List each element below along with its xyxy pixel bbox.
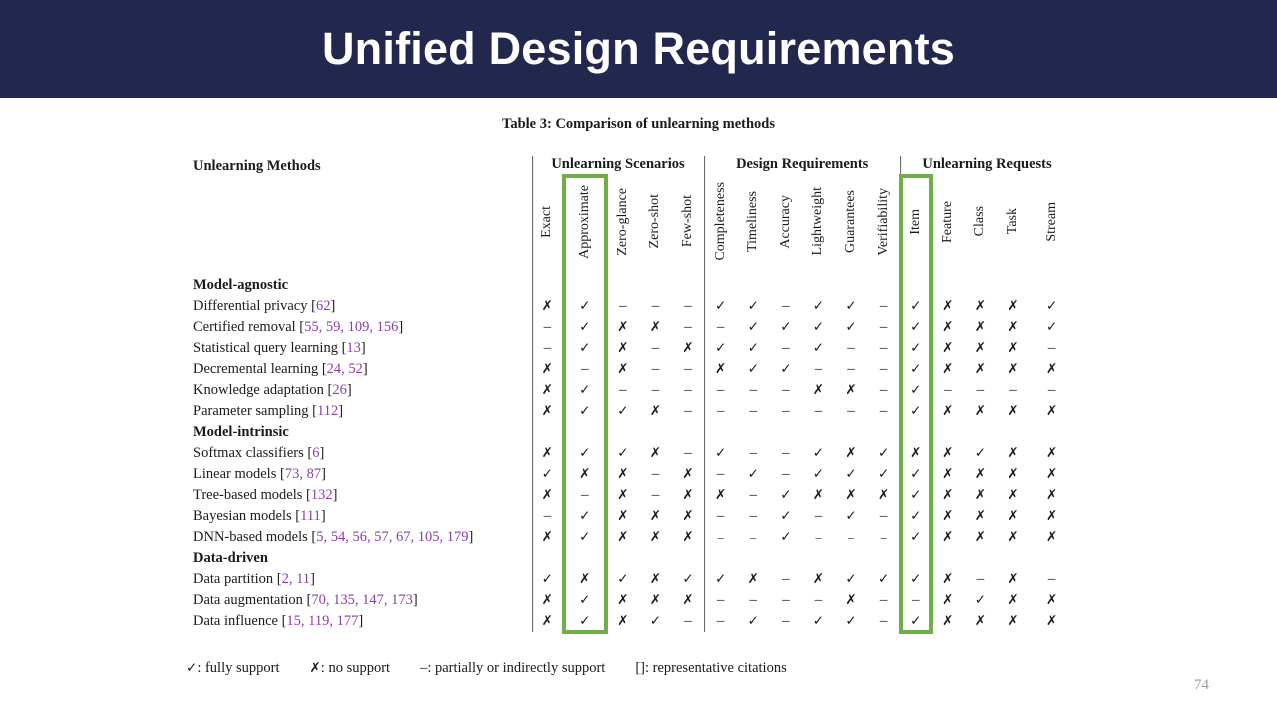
support-cell-timeliness: – bbox=[737, 485, 770, 506]
support-cell-task: ✗ bbox=[997, 527, 1030, 548]
dash-icon: – bbox=[750, 382, 758, 398]
section-header-spacer-cell bbox=[867, 275, 900, 296]
cross-icon: ✗ bbox=[650, 445, 661, 461]
cross-icon: ✗ bbox=[617, 592, 628, 608]
support-cell-zero-glance: – bbox=[607, 296, 640, 317]
method-citations: 2, 11 bbox=[282, 571, 310, 587]
check-icon: ✓ bbox=[748, 613, 759, 629]
cross-icon: ✗ bbox=[942, 445, 953, 461]
section-header-spacer-cell bbox=[672, 275, 705, 296]
method-citations: 15, 119, 177 bbox=[286, 613, 358, 629]
check-icon: ✓ bbox=[910, 403, 921, 419]
dash-icon: – bbox=[652, 487, 660, 503]
cross-icon: ✗ bbox=[942, 571, 953, 587]
check-icon: ✓ bbox=[579, 529, 590, 545]
dash-icon: – bbox=[619, 382, 627, 398]
check-icon: ✓ bbox=[845, 466, 856, 482]
support-cell-stream: ✗ bbox=[1029, 485, 1074, 506]
method-name: DNN-based models [ bbox=[193, 529, 316, 545]
support-cell-feature: ✗ bbox=[932, 359, 965, 380]
support-cell-stream: ✓ bbox=[1029, 296, 1074, 317]
section-header-spacer-cell bbox=[802, 422, 835, 443]
table-row: Data partition [2, 11]✓✗✓✗✓✓✗–✗✓✓✓✗–✗– bbox=[186, 569, 1074, 590]
support-cell-approximate: ✓ bbox=[563, 380, 606, 401]
cross-icon: ✗ bbox=[650, 319, 661, 335]
check-icon: ✓ bbox=[650, 613, 661, 629]
support-cell-stream: – bbox=[1029, 569, 1074, 590]
support-cell-stream: ✗ bbox=[1029, 401, 1074, 422]
method-citations: 26 bbox=[332, 382, 347, 398]
support-cell-lightweight: – bbox=[802, 359, 835, 380]
check-icon: ✓ bbox=[748, 298, 759, 314]
cross-icon: ✗ bbox=[542, 298, 553, 314]
cross-icon: ✗ bbox=[975, 466, 986, 482]
cross-icon: ✗ bbox=[682, 340, 693, 356]
slide-content: Table 3: Comparison of unlearning method… bbox=[0, 98, 1277, 716]
section-header-spacer-cell bbox=[607, 548, 640, 569]
cross-icon: ✗ bbox=[845, 592, 856, 608]
cross-icon: ✗ bbox=[1007, 487, 1018, 503]
section-title: Model-agnostic bbox=[186, 275, 532, 296]
support-cell-item: ✓ bbox=[900, 569, 932, 590]
method-name-cell: Knowledge adaptation [26] bbox=[186, 380, 532, 401]
dash-icon: – bbox=[782, 340, 790, 356]
support-cell-zero-shot: ✗ bbox=[639, 317, 672, 338]
support-cell-few-shot: ✗ bbox=[672, 527, 705, 548]
cross-icon: ✗ bbox=[942, 319, 953, 335]
cross-icon: ✗ bbox=[845, 445, 856, 461]
support-cell-completeness: – bbox=[704, 611, 737, 632]
section-header-spacer-cell bbox=[607, 275, 640, 296]
cross-icon: ✗ bbox=[715, 361, 726, 377]
support-cell-guarantees: ✓ bbox=[835, 317, 868, 338]
column-header-exact: Exact bbox=[532, 176, 564, 275]
cross-icon: ✗ bbox=[975, 487, 986, 503]
citation-bracket-close: ] bbox=[338, 403, 343, 419]
section-header-spacer-cell bbox=[770, 275, 803, 296]
dash-icon: – bbox=[544, 340, 552, 356]
support-cell-zero-glance: ✗ bbox=[607, 359, 640, 380]
dash-icon: – bbox=[912, 592, 920, 608]
column-header-label: Approximate bbox=[578, 185, 592, 259]
column-header-label: Stream bbox=[1045, 202, 1059, 242]
support-cell-class: ✗ bbox=[964, 317, 997, 338]
dash-icon: – bbox=[815, 361, 823, 377]
column-header-item: Item bbox=[900, 176, 932, 275]
support-cell-guarantees: – bbox=[835, 401, 868, 422]
support-cell-completeness: – bbox=[704, 380, 737, 401]
support-cell-class: – bbox=[964, 380, 997, 401]
column-header-few-shot: Few-shot bbox=[672, 176, 705, 275]
legend-item-label: : no support bbox=[321, 660, 390, 676]
table-row: Softmax classifiers [6]✗✓✓✗–✓––✓✗✓✗✗✓✗✗ bbox=[186, 443, 1074, 464]
support-cell-timeliness: – bbox=[737, 380, 770, 401]
dash-icon: – bbox=[977, 571, 985, 587]
check-icon: ✓ bbox=[682, 571, 693, 587]
support-cell-task: ✗ bbox=[997, 485, 1030, 506]
column-header-completeness: Completeness bbox=[704, 176, 737, 275]
support-cell-task: ✗ bbox=[997, 590, 1030, 611]
support-cell-timeliness: – bbox=[737, 401, 770, 422]
column-header-label: Class bbox=[973, 206, 987, 236]
check-icon: ✓ bbox=[579, 508, 590, 524]
check-icon: ✓ bbox=[910, 382, 921, 398]
check-icon: ✓ bbox=[780, 529, 791, 545]
support-cell-guarantees: ✓ bbox=[835, 569, 868, 590]
dash-icon: – bbox=[717, 319, 725, 335]
check-icon: ✓ bbox=[748, 466, 759, 482]
check-icon: ✓ bbox=[748, 361, 759, 377]
support-cell-lightweight: ✗ bbox=[802, 569, 835, 590]
check-icon: ✓ bbox=[910, 319, 921, 335]
dash-icon: – bbox=[652, 340, 660, 356]
support-cell-item: ✓ bbox=[900, 401, 932, 422]
check-icon: ✓ bbox=[845, 571, 856, 587]
support-cell-zero-shot: – bbox=[639, 359, 672, 380]
support-cell-class: ✗ bbox=[964, 296, 997, 317]
support-cell-stream: ✓ bbox=[1029, 317, 1074, 338]
check-icon: ✓ bbox=[910, 466, 921, 482]
support-cell-class: ✓ bbox=[964, 443, 997, 464]
section-title: Model-intrinsic bbox=[186, 422, 532, 443]
support-cell-exact: ✓ bbox=[532, 464, 564, 485]
dash-icon: – bbox=[782, 382, 790, 398]
support-cell-exact: ✗ bbox=[532, 359, 564, 380]
column-header-approximate: Approximate bbox=[563, 176, 606, 275]
support-cell-task: ✗ bbox=[997, 611, 1030, 632]
method-name: Certified removal [ bbox=[193, 319, 304, 335]
support-cell-completeness: ✗ bbox=[704, 485, 737, 506]
header-group-unlearning-scenarios: Unlearning Scenarios bbox=[532, 156, 705, 176]
cross-icon: ✗ bbox=[942, 361, 953, 377]
method-name: Data influence [ bbox=[193, 613, 286, 629]
dash-icon: – bbox=[1048, 571, 1056, 587]
cross-icon: ✗ bbox=[542, 529, 553, 545]
citation-bracket-close: ] bbox=[358, 613, 363, 629]
dash-icon: – bbox=[847, 403, 855, 419]
cross-icon: ✗ bbox=[650, 403, 661, 419]
support-cell-exact: ✗ bbox=[532, 527, 564, 548]
cross-icon: ✗ bbox=[1007, 529, 1018, 545]
support-cell-item: ✗ bbox=[900, 443, 932, 464]
support-cell-task: ✗ bbox=[997, 401, 1030, 422]
section-header-spacer-cell bbox=[532, 548, 564, 569]
section-header-spacer-cell bbox=[867, 548, 900, 569]
method-citations: 70, 135, 147, 173 bbox=[311, 592, 413, 608]
check-icon: ✓ bbox=[878, 466, 889, 482]
section-header-spacer-cell bbox=[1029, 548, 1074, 569]
check-icon: ✓ bbox=[910, 487, 921, 503]
cross-icon: ✗ bbox=[682, 487, 693, 503]
support-cell-few-shot: ✓ bbox=[672, 569, 705, 590]
check-icon: ✓ bbox=[579, 298, 590, 314]
cross-icon: ✗ bbox=[1046, 592, 1057, 608]
check-icon: ✓ bbox=[715, 340, 726, 356]
method-name: Tree-based models [ bbox=[193, 487, 311, 503]
support-cell-task: ✗ bbox=[997, 338, 1030, 359]
support-cell-accuracy: ✓ bbox=[770, 317, 803, 338]
check-icon: ✓ bbox=[910, 508, 921, 524]
cross-icon: ✗ bbox=[942, 340, 953, 356]
check-icon: ✓ bbox=[780, 319, 791, 335]
check-icon: ✓ bbox=[813, 340, 824, 356]
column-header-timeliness: Timeliness bbox=[737, 176, 770, 275]
dash-icon: – bbox=[750, 508, 758, 524]
column-header-label: Guarantees bbox=[844, 190, 858, 253]
cross-icon: ✗ bbox=[579, 571, 590, 587]
column-header-task: Task bbox=[997, 176, 1030, 275]
support-cell-class: ✗ bbox=[964, 527, 997, 548]
section-header-spacer-cell bbox=[704, 548, 737, 569]
dash-icon: – bbox=[684, 445, 692, 461]
dash-icon: – bbox=[684, 319, 692, 335]
support-cell-zero-glance: ✗ bbox=[607, 506, 640, 527]
support-cell-approximate: ✓ bbox=[563, 590, 606, 611]
support-cell-class: ✗ bbox=[964, 401, 997, 422]
section-header-spacer-cell bbox=[563, 275, 606, 296]
support-cell-approximate: ✓ bbox=[563, 338, 606, 359]
section-header-spacer-cell bbox=[639, 422, 672, 443]
cross-icon: ✗ bbox=[1046, 529, 1057, 545]
section-header-spacer-cell bbox=[900, 548, 932, 569]
cross-icon: ✗ bbox=[617, 508, 628, 524]
support-cell-accuracy: ✓ bbox=[770, 506, 803, 527]
support-cell-class: – bbox=[964, 569, 997, 590]
support-cell-verifiability: ✗ bbox=[867, 485, 900, 506]
support-cell-guarantees: ✗ bbox=[835, 590, 868, 611]
support-cell-verifiability: – bbox=[867, 338, 900, 359]
support-cell-zero-shot: – bbox=[639, 485, 672, 506]
section-header-spacer-cell bbox=[835, 275, 868, 296]
table-caption: Table 3: Comparison of unlearning method… bbox=[0, 116, 1277, 133]
support-cell-verifiability: – bbox=[867, 527, 900, 548]
support-cell-task: – bbox=[997, 380, 1030, 401]
support-cell-exact: – bbox=[532, 317, 564, 338]
table-row: Differential privacy [62]✗✓–––✓✓–✓✓–✓✗✗✗… bbox=[186, 296, 1074, 317]
support-cell-timeliness: ✓ bbox=[737, 317, 770, 338]
support-cell-approximate: ✓ bbox=[563, 611, 606, 632]
support-cell-lightweight: ✓ bbox=[802, 296, 835, 317]
section-header-spacer-cell bbox=[932, 548, 965, 569]
dash-icon: – bbox=[782, 403, 790, 419]
method-name: Data partition [ bbox=[193, 571, 282, 587]
support-cell-exact: – bbox=[532, 506, 564, 527]
support-cell-few-shot: ✗ bbox=[672, 464, 705, 485]
cross-icon: ✗ bbox=[942, 298, 953, 314]
support-cell-completeness: – bbox=[704, 401, 737, 422]
table-section-header-row: Model-agnostic bbox=[186, 275, 1074, 296]
citation-bracket-close: ] bbox=[363, 361, 368, 377]
section-header-spacer-cell bbox=[532, 422, 564, 443]
section-header-spacer-cell bbox=[1029, 275, 1074, 296]
table-header-column-row: ExactApproximateZero-glanceZero-shotFew-… bbox=[186, 176, 1074, 275]
cross-icon: ✗ bbox=[1007, 466, 1018, 482]
column-header-label: Zero-shot bbox=[648, 194, 662, 248]
check-icon: ✓ bbox=[975, 445, 986, 461]
check-icon: ✓ bbox=[975, 592, 986, 608]
support-cell-exact: ✗ bbox=[532, 380, 564, 401]
cross-icon: ✗ bbox=[1046, 403, 1057, 419]
cross-icon: ✗ bbox=[309, 660, 320, 676]
support-cell-exact: ✓ bbox=[532, 569, 564, 590]
support-cell-accuracy: – bbox=[770, 443, 803, 464]
legend-item-label: : fully support bbox=[197, 660, 279, 676]
dash-icon: – bbox=[815, 508, 823, 524]
support-cell-zero-glance: ✗ bbox=[607, 464, 640, 485]
method-citations: 111 bbox=[300, 508, 321, 524]
support-cell-task: ✗ bbox=[997, 296, 1030, 317]
cross-icon: ✗ bbox=[942, 613, 953, 629]
cross-icon: ✗ bbox=[813, 571, 824, 587]
dash-icon: – bbox=[750, 403, 758, 419]
check-icon: ✓ bbox=[845, 319, 856, 335]
method-citations: 24, 52 bbox=[327, 361, 363, 377]
page-title: Unified Design Requirements bbox=[0, 0, 1277, 98]
support-cell-few-shot: ✗ bbox=[672, 590, 705, 611]
support-cell-zero-shot: ✗ bbox=[639, 506, 672, 527]
support-cell-zero-glance: ✓ bbox=[607, 401, 640, 422]
support-cell-feature: ✗ bbox=[932, 506, 965, 527]
cross-icon: ✗ bbox=[942, 487, 953, 503]
header-spacer bbox=[186, 176, 532, 275]
support-cell-guarantees: ✓ bbox=[835, 296, 868, 317]
support-cell-feature: ✗ bbox=[932, 590, 965, 611]
support-cell-item: ✓ bbox=[900, 464, 932, 485]
dash-icon: – bbox=[880, 298, 888, 314]
dash-icon: – bbox=[581, 487, 589, 503]
support-cell-few-shot: ✗ bbox=[672, 485, 705, 506]
table-section-header-row: Data-driven bbox=[186, 548, 1074, 569]
section-header-spacer-cell bbox=[563, 422, 606, 443]
column-header-label: Timeliness bbox=[746, 191, 760, 252]
legend-item-label: : partially or indirectly support bbox=[427, 660, 605, 676]
support-cell-verifiability: – bbox=[867, 380, 900, 401]
check-icon: ✓ bbox=[910, 361, 921, 377]
column-header-verifiability: Verifiability bbox=[867, 176, 900, 275]
legend-gap bbox=[390, 660, 420, 677]
section-header-spacer-cell bbox=[932, 422, 965, 443]
support-cell-zero-glance: ✗ bbox=[607, 338, 640, 359]
support-cell-approximate: – bbox=[563, 485, 606, 506]
support-cell-lightweight: ✓ bbox=[802, 611, 835, 632]
support-cell-verifiability: – bbox=[867, 296, 900, 317]
method-name: Statistical query learning [ bbox=[193, 340, 346, 356]
support-cell-timeliness: – bbox=[737, 506, 770, 527]
support-cell-approximate: ✓ bbox=[563, 296, 606, 317]
method-name-cell: Parameter sampling [112] bbox=[186, 401, 532, 422]
cross-icon: ✗ bbox=[975, 298, 986, 314]
support-cell-verifiability: – bbox=[867, 317, 900, 338]
check-icon: ✓ bbox=[910, 340, 921, 356]
section-header-spacer-cell bbox=[639, 275, 672, 296]
method-name: Linear models [ bbox=[193, 466, 285, 482]
dash-icon: – bbox=[880, 508, 888, 524]
column-header-label: Task bbox=[1006, 208, 1020, 234]
dash-icon: – bbox=[717, 403, 725, 419]
dash-icon: – bbox=[750, 530, 756, 544]
column-header-label: Exact bbox=[540, 206, 554, 238]
support-cell-stream: ✗ bbox=[1029, 590, 1074, 611]
cross-icon: ✗ bbox=[845, 487, 856, 503]
support-cell-zero-shot: ✗ bbox=[639, 443, 672, 464]
dash-icon: – bbox=[684, 382, 692, 398]
section-header-spacer-cell bbox=[900, 275, 932, 296]
cross-icon: ✗ bbox=[1046, 445, 1057, 461]
method-name: Decremental learning [ bbox=[193, 361, 327, 377]
support-cell-approximate: ✓ bbox=[563, 506, 606, 527]
method-name: Bayesian models [ bbox=[193, 508, 300, 524]
dash-icon: – bbox=[847, 361, 855, 377]
cross-icon: ✗ bbox=[650, 571, 661, 587]
support-cell-completeness: – bbox=[704, 464, 737, 485]
cross-icon: ✗ bbox=[617, 340, 628, 356]
support-cell-lightweight: – bbox=[802, 527, 835, 548]
cross-icon: ✗ bbox=[542, 403, 553, 419]
citation-bracket-close: ] bbox=[319, 445, 324, 461]
cross-icon: ✗ bbox=[975, 319, 986, 335]
cross-icon: ✗ bbox=[1007, 571, 1018, 587]
support-cell-zero-glance: ✗ bbox=[607, 590, 640, 611]
cross-icon: ✗ bbox=[579, 466, 590, 482]
dash-icon: – bbox=[944, 382, 952, 398]
cross-icon: ✗ bbox=[682, 466, 693, 482]
section-header-spacer-cell bbox=[802, 548, 835, 569]
cross-icon: ✗ bbox=[975, 508, 986, 524]
support-cell-verifiability: – bbox=[867, 506, 900, 527]
cross-icon: ✗ bbox=[1046, 361, 1057, 377]
support-cell-verifiability: ✓ bbox=[867, 443, 900, 464]
support-cell-verifiability: – bbox=[867, 359, 900, 380]
support-cell-few-shot: – bbox=[672, 380, 705, 401]
check-icon: ✓ bbox=[579, 592, 590, 608]
check-icon: ✓ bbox=[748, 319, 759, 335]
check-icon: ✓ bbox=[579, 319, 590, 335]
dash-icon: – bbox=[652, 361, 660, 377]
cross-icon: ✗ bbox=[910, 445, 921, 461]
support-cell-task: ✗ bbox=[997, 317, 1030, 338]
support-cell-item: ✓ bbox=[900, 317, 932, 338]
support-cell-stream: ✗ bbox=[1029, 611, 1074, 632]
method-name-cell: Linear models [73, 87] bbox=[186, 464, 532, 485]
support-cell-feature: – bbox=[932, 380, 965, 401]
support-cell-accuracy: – bbox=[770, 611, 803, 632]
support-cell-zero-shot: ✗ bbox=[639, 401, 672, 422]
support-cell-class: ✗ bbox=[964, 338, 997, 359]
support-cell-zero-glance: ✓ bbox=[607, 443, 640, 464]
support-cell-item: ✓ bbox=[900, 611, 932, 632]
dash-icon: – bbox=[848, 530, 854, 544]
support-cell-completeness: – bbox=[704, 590, 737, 611]
method-citations: 13 bbox=[346, 340, 361, 356]
cross-icon: ✗ bbox=[813, 382, 824, 398]
dash-icon: – bbox=[652, 466, 660, 482]
check-icon: ✓ bbox=[813, 613, 824, 629]
support-cell-feature: ✗ bbox=[932, 611, 965, 632]
table-row: DNN-based models [5, 54, 56, 57, 67, 105… bbox=[186, 527, 1074, 548]
support-cell-timeliness: – bbox=[737, 527, 770, 548]
dash-icon: – bbox=[717, 592, 725, 608]
cross-icon: ✗ bbox=[942, 508, 953, 524]
header-group-design-requirements: Design Requirements bbox=[704, 156, 900, 176]
check-icon: ✓ bbox=[910, 529, 921, 545]
column-header-label: Zero-glance bbox=[616, 188, 630, 256]
section-title: Data-driven bbox=[186, 548, 532, 569]
support-cell-stream: ✗ bbox=[1029, 443, 1074, 464]
support-cell-zero-shot: ✗ bbox=[639, 590, 672, 611]
method-name-cell: Certified removal [55, 59, 109, 156] bbox=[186, 317, 532, 338]
dash-icon: – bbox=[750, 445, 758, 461]
table-section-header-row: Model-intrinsic bbox=[186, 422, 1074, 443]
